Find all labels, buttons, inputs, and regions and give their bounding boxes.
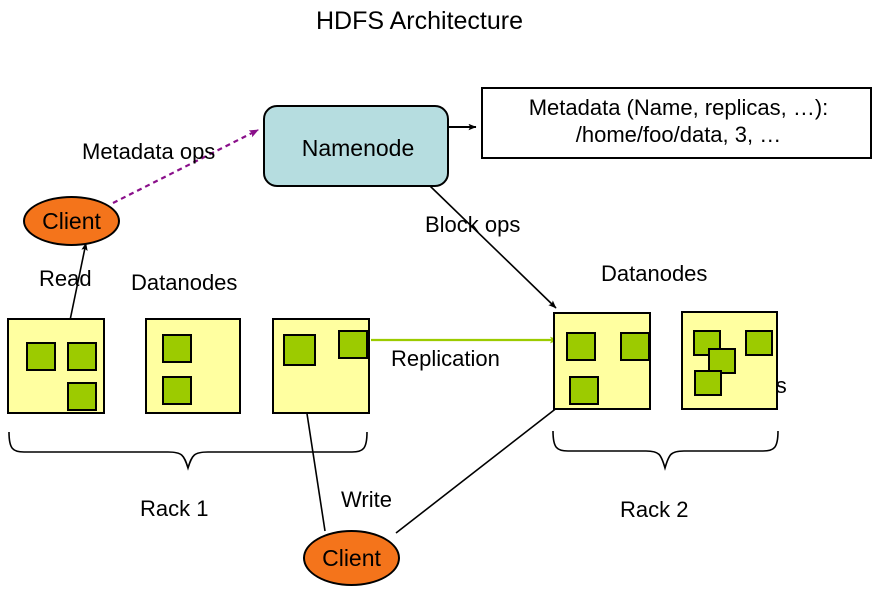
datanode-2[interactable] — [145, 318, 241, 414]
datanode-5[interactable] — [681, 311, 778, 410]
label-block-ops: Block ops — [425, 213, 520, 236]
block — [745, 330, 773, 356]
datanode-1[interactable] — [7, 318, 105, 414]
metadata-box[interactable]: Metadata (Name, replicas, …): /home/foo/… — [481, 87, 872, 159]
namenode-label: Namenode — [265, 107, 451, 189]
metadata-line-2: /home/foo/data, 3, … — [483, 122, 874, 149]
block — [566, 332, 596, 361]
label-write: Write — [341, 488, 392, 511]
block — [67, 382, 97, 411]
datanode-3[interactable] — [272, 318, 370, 414]
block — [620, 332, 650, 361]
client-read-node[interactable]: Client — [23, 196, 120, 246]
client-write-label: Client — [322, 545, 381, 572]
edge-block-ops — [430, 186, 556, 308]
client-write-node[interactable]: Client — [303, 530, 400, 586]
datanode-4[interactable] — [553, 312, 651, 410]
hdfs-architecture-diagram: HDFS Architecture — [0, 0, 874, 604]
label-read: Read — [39, 267, 92, 290]
block — [338, 330, 368, 359]
label-datanodes-left: Datanodes — [131, 271, 237, 294]
block — [283, 334, 316, 366]
label-replication: Replication — [391, 347, 500, 370]
block — [569, 376, 599, 405]
label-datanodes-right: Datanodes — [601, 262, 707, 285]
block — [67, 342, 97, 371]
block — [162, 334, 192, 363]
label-rack-2: Rack 2 — [620, 498, 688, 521]
namenode-box[interactable]: Namenode — [263, 105, 449, 187]
client-read-label: Client — [42, 208, 101, 235]
label-rack-1: Rack 1 — [140, 497, 208, 520]
edge-write-rack2 — [396, 400, 567, 533]
block — [694, 370, 722, 396]
block — [26, 342, 56, 371]
rack2-brace — [553, 431, 778, 468]
metadata-line-1: Metadata (Name, replicas, …): — [483, 95, 874, 122]
block — [162, 376, 192, 405]
label-metadata-ops: Metadata ops — [82, 140, 215, 163]
